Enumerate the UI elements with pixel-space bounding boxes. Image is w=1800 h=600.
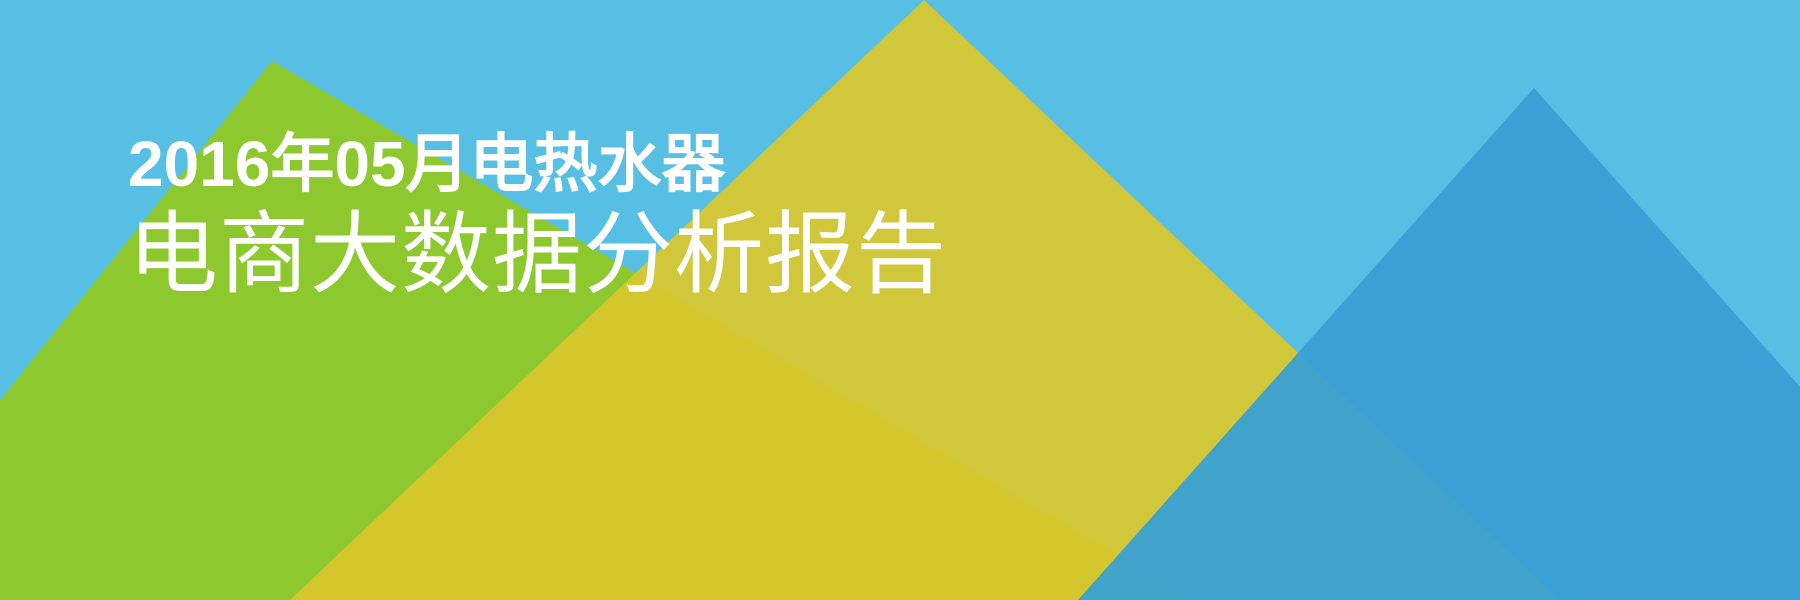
background-geometric-artwork: [0, 0, 1800, 600]
report-cover-banner: 2016年05月电热水器 电商大数据分析报告: [0, 0, 1800, 600]
